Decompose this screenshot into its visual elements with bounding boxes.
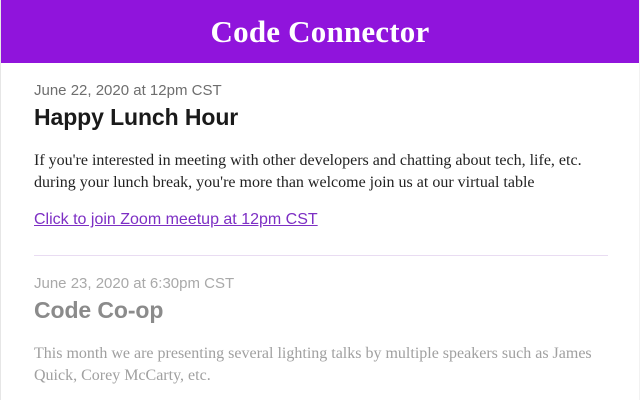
events-list: June 22, 2020 at 12pm CST Happy Lunch Ho… xyxy=(1,63,639,387)
page-title: Code Connector xyxy=(211,16,430,47)
site-header: Code Connector xyxy=(0,0,640,63)
event-item-happy-lunch-hour: June 22, 2020 at 12pm CST Happy Lunch Ho… xyxy=(34,63,606,231)
event-item-code-co-op: June 23, 2020 at 6:30pm CST Code Co-op T… xyxy=(34,256,606,386)
event-description: If you're interested in meeting with oth… xyxy=(34,150,604,193)
zoom-meetup-link[interactable]: Click to join Zoom meetup at 12pm CST xyxy=(34,210,318,231)
event-title: Happy Lunch Hour xyxy=(34,103,606,132)
page-container: Code Connector June 22, 2020 at 12pm CST… xyxy=(0,0,640,400)
event-title: Code Co-op xyxy=(34,296,606,325)
event-date: June 22, 2020 at 12pm CST xyxy=(34,81,606,101)
event-description: This month we are presenting several lig… xyxy=(34,343,604,386)
event-date: June 23, 2020 at 6:30pm CST xyxy=(34,274,606,294)
